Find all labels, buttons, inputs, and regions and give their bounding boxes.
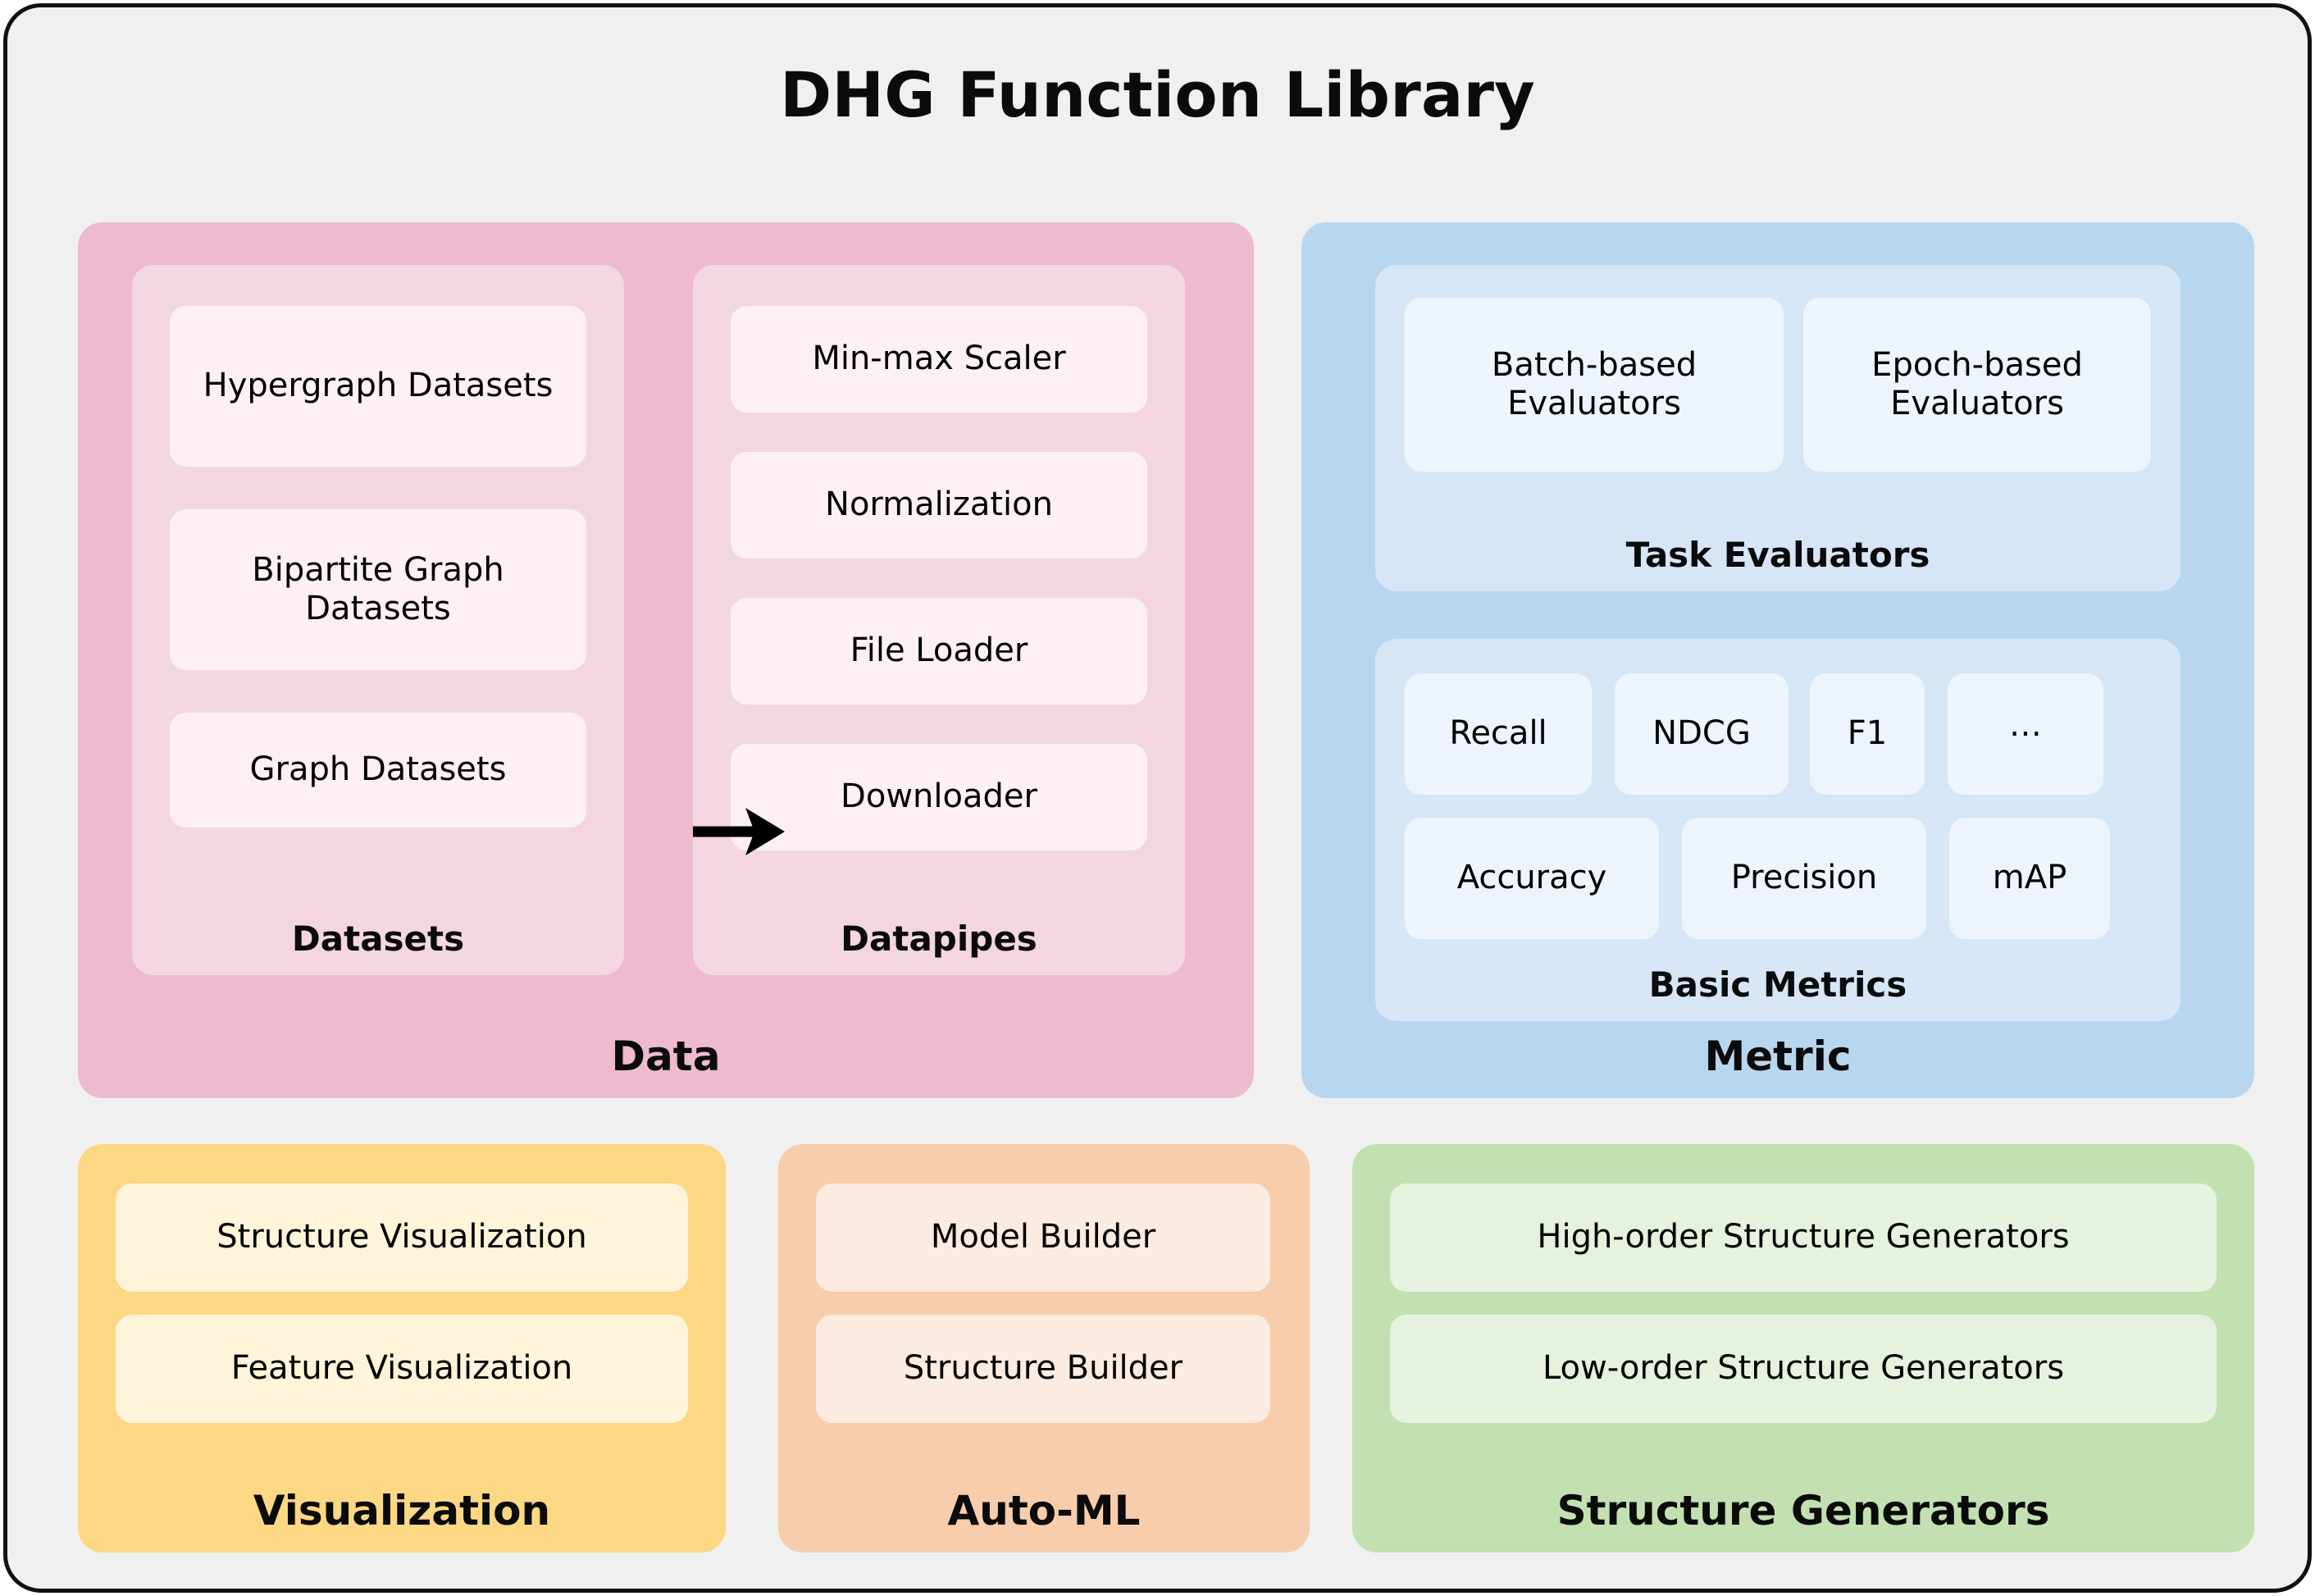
group-title-visualization: Visualization [78,1487,726,1534]
chip-downloader[interactable]: Downloader [731,744,1147,850]
chip-hypergraph-datasets[interactable]: Hypergraph Datasets [170,306,586,467]
chip-batch-based-evaluators[interactable]: Batch-based Evaluators [1405,298,1784,472]
chip-ndcg[interactable]: NDCG [1615,673,1789,795]
chip-epoch-based-evaluators[interactable]: Epoch-based Evaluators [1803,298,2151,472]
chip-file-loader[interactable]: File Loader [731,598,1147,705]
chip-low-order-structure-generators[interactable]: Low-order Structure Generators [1390,1315,2217,1423]
chip-accuracy[interactable]: Accuracy [1405,818,1659,939]
subpanel-basic-metrics: Recall NDCG F1 ⋯ Accuracy Precision mAP … [1375,639,2181,1021]
group-data: Hypergraph Datasets Bipartite Graph Data… [78,222,1254,1098]
subpanel-title-basic-metrics: Basic Metrics [1375,964,2181,1005]
group-structure-generators: High-order Structure Generators Low-orde… [1352,1144,2254,1553]
group-metric: Batch-based Evaluators Epoch-based Evalu… [1301,222,2254,1098]
group-auto-ml: Model Builder Structure Builder Auto-ML [778,1144,1310,1553]
chip-normalization[interactable]: Normalization [731,452,1147,559]
arrow-right-icon [691,796,788,867]
chip-graph-datasets[interactable]: Graph Datasets [170,713,586,828]
subpanel-datasets: Hypergraph Datasets Bipartite Graph Data… [132,265,624,975]
subpanel-task-evaluators: Batch-based Evaluators Epoch-based Evalu… [1375,265,2181,591]
chip-map[interactable]: mAP [1949,818,2110,939]
subpanel-title-datasets: Datasets [132,919,624,959]
figure-frame: DHG Function Library Hypergraph Datasets… [3,3,2312,1593]
chip-bipartite-graph-datasets[interactable]: Bipartite Graph Datasets [170,509,586,670]
group-title-structure-generators: Structure Generators [1352,1487,2254,1534]
group-title-metric: Metric [1301,1033,2254,1080]
chip-recall[interactable]: Recall [1405,673,1592,795]
subpanel-datapipes: Min-max Scaler Normalization File Loader… [693,265,1185,975]
chip-structure-visualization[interactable]: Structure Visualization [116,1183,688,1292]
chip-high-order-structure-generators[interactable]: High-order Structure Generators [1390,1183,2217,1292]
group-visualization: Structure Visualization Feature Visualiz… [78,1144,726,1553]
chip-model-builder[interactable]: Model Builder [816,1183,1270,1292]
subpanel-title-datapipes: Datapipes [693,919,1185,959]
chip-precision[interactable]: Precision [1682,818,1926,939]
subpanel-title-task-evaluators: Task Evaluators [1375,535,2181,575]
chip-f1[interactable]: F1 [1810,673,1925,795]
chip-feature-visualization[interactable]: Feature Visualization [116,1315,688,1423]
chip-structure-builder[interactable]: Structure Builder [816,1315,1270,1423]
page-title: DHG Function Library [7,58,2308,131]
chip-min-max-scaler[interactable]: Min-max Scaler [731,306,1147,413]
group-title-auto-ml: Auto-ML [778,1487,1310,1534]
group-title-data: Data [78,1033,1254,1080]
chip-more-metrics-ellipsis[interactable]: ⋯ [1948,673,2103,795]
